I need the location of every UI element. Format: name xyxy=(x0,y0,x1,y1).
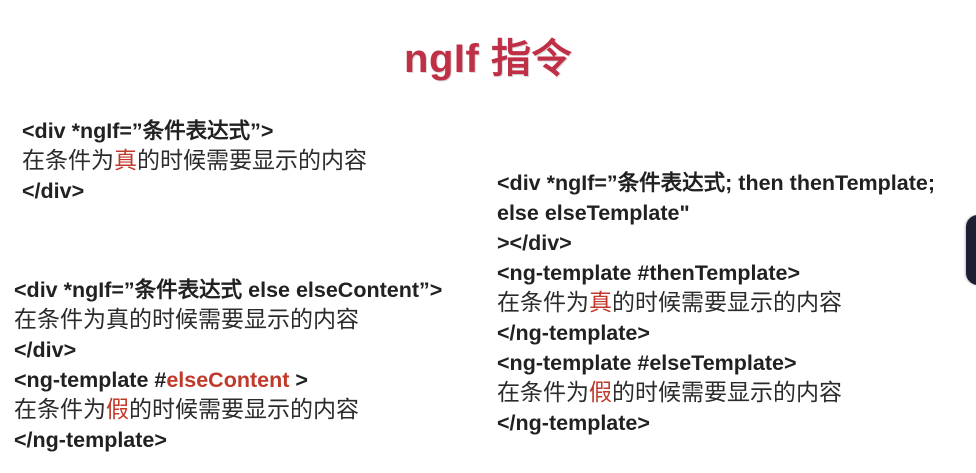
code-text: <ng-template #thenTemplate> xyxy=(497,261,800,285)
code-line: <div *ngIf=”条件表达式”> xyxy=(22,116,367,146)
code-text: </ng-template> xyxy=(14,428,167,452)
code-text: <div *ngIf=”条件表达式; then thenTemplate; xyxy=(497,171,935,195)
code-line: </div> xyxy=(14,335,442,365)
edge-decoration-panel xyxy=(966,215,976,285)
code-text: </div> xyxy=(22,179,84,203)
code-line: <div *ngIf=”条件表达式; then thenTemplate; xyxy=(497,168,935,198)
code-line: <ng-template #thenTemplate> xyxy=(497,258,935,288)
code-text: <div *ngIf=”条件表达式”> xyxy=(22,119,273,143)
code-line: <ng-template #elseContent > xyxy=(14,365,442,395)
code-text: else elseTemplate" xyxy=(497,201,690,225)
code-line: 在条件为真的时候需要显示的内容 xyxy=(497,288,935,318)
highlighted-text: 真 xyxy=(114,148,137,174)
code-text: 的时候需要显示的内容 xyxy=(612,380,842,406)
code-text: <div *ngIf=”条件表达式 else elseContent”> xyxy=(14,278,442,302)
code-block-ngif-basic: <div *ngIf=”条件表达式”>在条件为真的时候需要显示的内容</div> xyxy=(22,116,367,206)
code-text: ></div> xyxy=(497,231,572,255)
code-text: 在条件为 xyxy=(14,397,106,423)
code-line: </ng-template> xyxy=(497,408,935,438)
highlighted-text: 假 xyxy=(589,380,612,406)
code-line: </ng-template> xyxy=(14,425,442,455)
code-line: 在条件为真的时候需要显示的内容 xyxy=(14,305,442,335)
code-text: <ng-template #elseTemplate> xyxy=(497,351,797,375)
code-text: </ng-template> xyxy=(497,321,650,345)
code-line: <div *ngIf=”条件表达式 else elseContent”> xyxy=(14,275,442,305)
code-text: <ng-template # xyxy=(14,368,166,392)
code-line: </div> xyxy=(22,176,367,206)
slide-canvas: ngIf 指令 <div *ngIf=”条件表达式”>在条件为真的时候需要显示的… xyxy=(0,0,976,473)
code-text: </div> xyxy=(14,338,76,362)
code-text: 在条件为 xyxy=(497,380,589,406)
code-line: <ng-template #elseTemplate> xyxy=(497,348,935,378)
code-line: ></div> xyxy=(497,228,935,258)
code-text: 的时候需要显示的内容 xyxy=(129,397,359,423)
code-text: 在条件为真的时候需要显示的内容 xyxy=(14,307,359,333)
code-block-ngif-then-else-template: <div *ngIf=”条件表达式; then thenTemplate;els… xyxy=(497,168,935,438)
code-line: 在条件为假的时候需要显示的内容 xyxy=(497,378,935,408)
code-text: > xyxy=(289,368,308,392)
code-line: 在条件为假的时候需要显示的内容 xyxy=(14,395,442,425)
code-text: 在条件为 xyxy=(497,290,589,316)
highlighted-text: 真 xyxy=(589,290,612,316)
code-line: else elseTemplate" xyxy=(497,198,935,228)
code-text: 的时候需要显示的内容 xyxy=(612,290,842,316)
code-line: 在条件为真的时候需要显示的内容 xyxy=(22,146,367,176)
page-title: ngIf 指令 xyxy=(0,26,976,84)
code-text: 在条件为 xyxy=(22,148,114,174)
highlighted-text: 假 xyxy=(106,397,129,423)
code-line: </ng-template> xyxy=(497,318,935,348)
highlighted-text: elseContent xyxy=(166,368,289,392)
code-text: 的时候需要显示的内容 xyxy=(137,148,367,174)
code-text: </ng-template> xyxy=(497,411,650,435)
code-block-ngif-else-content: <div *ngIf=”条件表达式 else elseContent”>在条件为… xyxy=(14,275,442,455)
